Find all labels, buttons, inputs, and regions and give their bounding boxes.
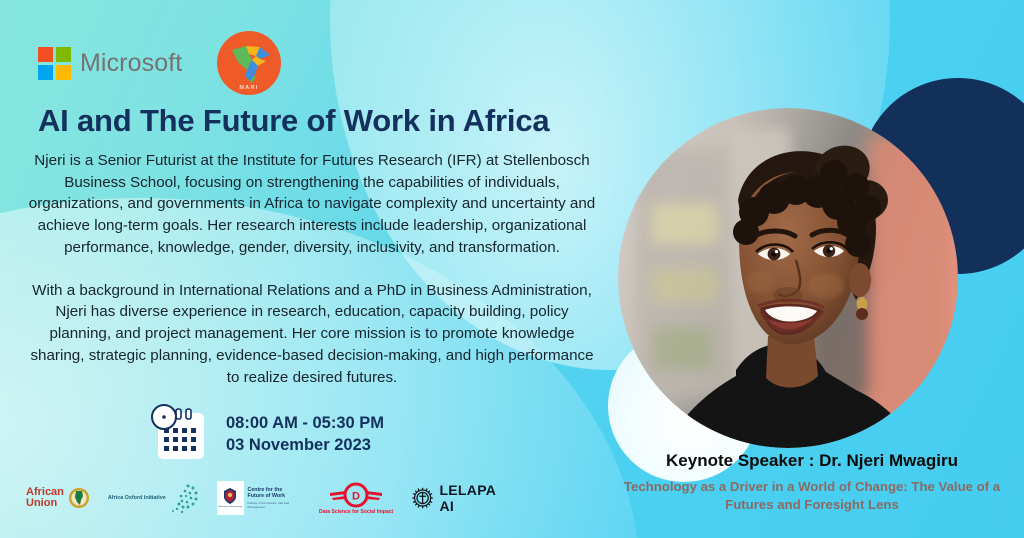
african-union-emblem-icon <box>68 487 90 509</box>
crest-sub-1: University of Johannesburg <box>218 506 242 509</box>
event-poster: Microsoft MARI AI and The Future of Work… <box>0 0 1024 538</box>
lelapa-wordmark: LELAPA AI <box>439 482 506 514</box>
event-date: 03 November 2023 <box>226 435 384 457</box>
event-datetime-text: 08:00 AM - 05:30 PM 03 November 2023 <box>226 413 384 457</box>
event-time: 08:00 AM - 05:30 PM <box>226 413 384 435</box>
dsfsi-wordmark: Data Science for Social Impact <box>319 509 393 515</box>
top-logo-row: Microsoft MARI <box>38 30 282 96</box>
page-title: AI and The Future of Work in Africa <box>38 103 598 139</box>
bio-paragraph-1: Njeri is a Senior Futurist at the Instit… <box>24 150 600 259</box>
africa-oxford-wordmark: Africa Oxford Initiative <box>108 495 166 501</box>
microsoft-wordmark: Microsoft <box>80 49 182 78</box>
data-science-for-social-impact-logo: D Data Science for Social Impact <box>319 482 393 515</box>
african-union-line2: Union <box>26 498 64 509</box>
svg-text:D: D <box>352 490 360 502</box>
cfw-line2: Future of Work <box>248 493 302 500</box>
cfw-wordmark: Centre for the Future of Work Faculty of… <box>248 487 302 509</box>
lelapa-gear-icon <box>411 485 434 511</box>
speaker-photo <box>618 108 958 448</box>
african-union-logo: African Union <box>26 487 90 509</box>
calendar-clock-icon <box>148 404 212 466</box>
microsoft-squares-icon <box>38 47 71 80</box>
african-union-wordmark: African Union <box>26 487 64 509</box>
keynote-speaker-label: Keynote Speaker : Dr. Njeri Mwagiru <box>600 451 1024 471</box>
speaker-portrait-image <box>618 108 958 448</box>
mari-logo: MARI <box>216 30 282 96</box>
cfw-line1: Centre for the <box>248 487 302 494</box>
centre-for-the-future-of-work-logo: University of Johannesburg Centre for th… <box>217 481 301 515</box>
mari-africa-icon: MARI <box>216 30 282 96</box>
lelapa-ai-logo: LELAPA AI <box>411 482 506 514</box>
speaker-bio: Njeri is a Senior Futurist at the Instit… <box>24 150 600 388</box>
partner-logo-row: African Union Africa Oxford Initiative <box>26 472 506 524</box>
africa-oxford-initiative-logo: Africa Oxford Initiative <box>108 482 199 514</box>
university-crest-icon: University of Johannesburg <box>217 481 244 515</box>
event-datetime: 08:00 AM - 05:30 PM 03 November 2023 <box>148 404 384 466</box>
cfw-sub-2: Faculty of Commerce, Law and Management <box>248 502 302 509</box>
svg-text:MARI: MARI <box>240 85 259 91</box>
winged-d-emblem-icon: D <box>328 482 384 508</box>
keynote-topic: Technology as a Driver in a World of Cha… <box>620 478 1004 514</box>
microsoft-logo: Microsoft <box>38 47 182 80</box>
bio-paragraph-2: With a background in International Relat… <box>24 280 600 389</box>
africa-oxford-dots-icon <box>169 482 199 514</box>
